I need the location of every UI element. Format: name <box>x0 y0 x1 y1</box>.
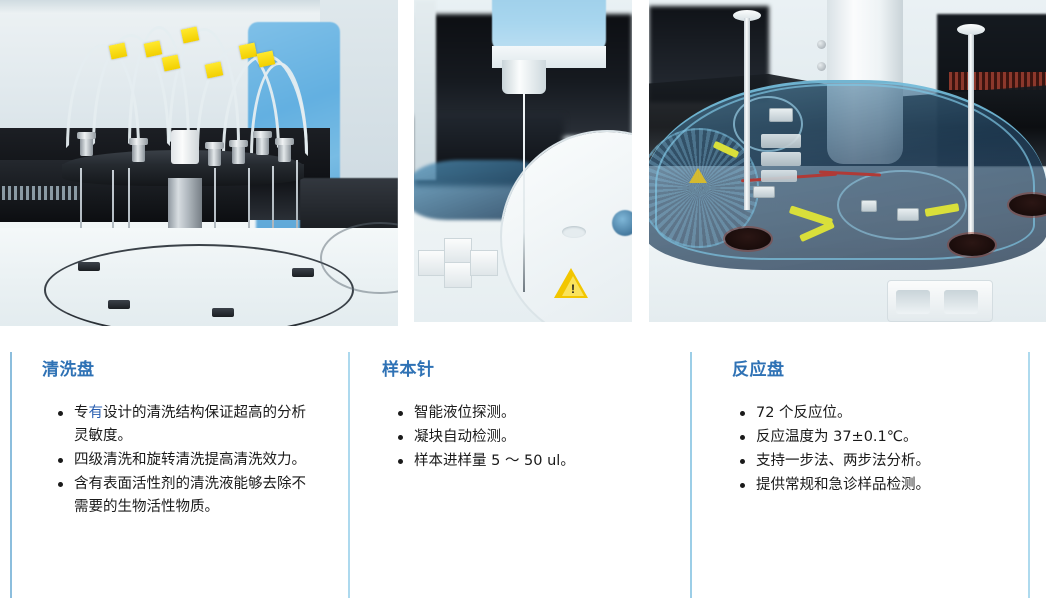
photo3-screw <box>817 62 826 71</box>
bullet-text: 设计的清洗结构保证超高的分析灵敏度。 <box>74 405 306 444</box>
photo1-connector-strip <box>2 186 80 200</box>
photo1-foot <box>108 300 130 309</box>
photo1-deck-track <box>44 244 354 326</box>
column-divider-right <box>1028 352 1030 598</box>
bullet-highlight: 有 <box>89 405 104 421</box>
photo1-foot <box>78 262 100 271</box>
bullet-text: 支持一步法、两步法分析。 <box>756 453 930 469</box>
feature-column-sample-probe: 样本针 智能液位探测。 凝块自动检测。 样本进样量 5 ～ 50 ul。 <box>382 332 682 474</box>
list-item: 智能液位探测。 <box>396 402 676 425</box>
photo2-arm-blue-cover <box>492 0 606 52</box>
feature-column-wash-disk: 清洗盘 专有设计的清洗结构保证超高的分析灵敏度。 四级清洗和旋转清洗提高清洗效力… <box>42 332 338 520</box>
photo2-probe-hub <box>502 60 546 94</box>
photo1-fitting <box>208 146 221 166</box>
photo3-cuvette-well <box>725 228 771 250</box>
column-title: 样本针 <box>382 355 682 380</box>
photo3-connector <box>861 200 877 212</box>
photo1-foot <box>212 308 234 317</box>
photo2-holder-block <box>470 250 498 276</box>
photo3-connector <box>769 108 793 122</box>
bullet-text: 样本进样量 5 ～ 50 ul。 <box>414 453 575 469</box>
photo3-reagent-probe <box>744 18 750 210</box>
reaction-disk-photo <box>649 0 1046 322</box>
feature-bullet-list: 72 个反应位。 反应温度为 37±0.1℃。 支持一步法、两步法分析。 提供常… <box>738 402 1024 497</box>
bullet-text: 凝块自动检测。 <box>414 429 516 445</box>
list-item: 含有表面活性剂的清洗液能够去除不需要的生物活性物质。 <box>56 473 308 519</box>
photo2-holder-block <box>418 250 446 276</box>
sample-probe-photo: ! <box>414 0 632 322</box>
photo2-holder-block <box>444 262 472 288</box>
photo3-screw <box>817 40 826 49</box>
photo3-reagent-probe <box>968 34 974 242</box>
list-item: 支持一步法、两步法分析。 <box>738 450 1024 473</box>
photo3-holder-block <box>896 290 930 314</box>
list-item: 样本进样量 5 ～ 50 ul。 <box>396 450 676 473</box>
list-item: 72 个反应位。 <box>738 402 1024 425</box>
list-item: 反应温度为 37±0.1℃。 <box>738 426 1024 449</box>
column-title: 反应盘 <box>732 355 1024 380</box>
feature-bullet-list: 专有设计的清洗结构保证超高的分析灵敏度。 四级清洗和旋转清洗提高清洗效力。 含有… <box>56 402 308 519</box>
list-item: 四级清洗和旋转清洗提高清洗效力。 <box>56 449 308 472</box>
column-divider-left <box>10 352 12 598</box>
photo2-platter-hole <box>612 210 632 236</box>
bullet-text: 含有表面活性剂的清洗液能够去除不需要的生物活性物质。 <box>74 476 306 515</box>
photo2-left-panel <box>414 0 436 180</box>
photo1-fitting <box>256 135 269 155</box>
feature-column-reaction-disk: 反应盘 72 个反应位。 反应温度为 37±0.1℃。 支持一步法、两步法分析。… <box>724 332 1024 498</box>
photo2-cross-holder <box>418 236 512 290</box>
bullet-text: 反应温度为 37±0.1℃。 <box>756 429 918 445</box>
list-item: 提供常规和急诊样品检测。 <box>738 474 1024 497</box>
photo1-fitting <box>278 142 291 162</box>
photo3-warning-triangle-icon <box>689 168 707 183</box>
bullet-text: 智能液位探测。 <box>414 405 516 421</box>
photo2-holder-block <box>444 238 472 264</box>
product-feature-page: ! <box>0 0 1046 605</box>
photo1-fitting <box>232 144 245 164</box>
photo2-platter-port <box>562 226 586 238</box>
photo3-connector <box>897 208 919 221</box>
warning-exclamation-icon: ! <box>571 283 575 295</box>
photo3-cuvette-well <box>949 234 995 256</box>
feature-text-area: 清洗盘 专有设计的清洗结构保证超高的分析灵敏度。 四级清洗和旋转清洗提高清洗效力… <box>0 332 1046 605</box>
photo3-white-holder <box>887 280 993 322</box>
photo3-connector <box>753 186 775 198</box>
photo3-module <box>761 170 797 182</box>
list-item: 专有设计的清洗结构保证超高的分析灵敏度。 <box>56 402 308 448</box>
bullet-text: 提供常规和急诊样品检测。 <box>756 477 930 493</box>
photo3-holder-block <box>944 290 978 314</box>
bullet-text: 72 个反应位。 <box>756 405 852 421</box>
list-item: 凝块自动检测。 <box>396 426 676 449</box>
photo3-module <box>761 152 801 166</box>
photo1-foot <box>292 268 314 277</box>
column-title: 清洗盘 <box>42 355 338 380</box>
photo1-fitting <box>132 142 145 162</box>
bullet-prefix: 专 <box>74 405 89 421</box>
feature-bullet-list: 智能液位探测。 凝块自动检测。 样本进样量 5 ～ 50 ul。 <box>396 402 676 473</box>
photo3-module <box>761 134 801 148</box>
photo2-sample-needle <box>523 92 525 292</box>
photo1-fitting <box>80 136 93 156</box>
column-divider-2 <box>690 352 692 598</box>
wash-station-photo <box>0 0 398 326</box>
photo1-center-cap <box>171 130 199 164</box>
column-divider-1 <box>348 352 350 598</box>
bullet-text: 四级清洗和旋转清洗提高清洗效力。 <box>74 452 306 468</box>
photo-strip: ! <box>0 0 1046 332</box>
